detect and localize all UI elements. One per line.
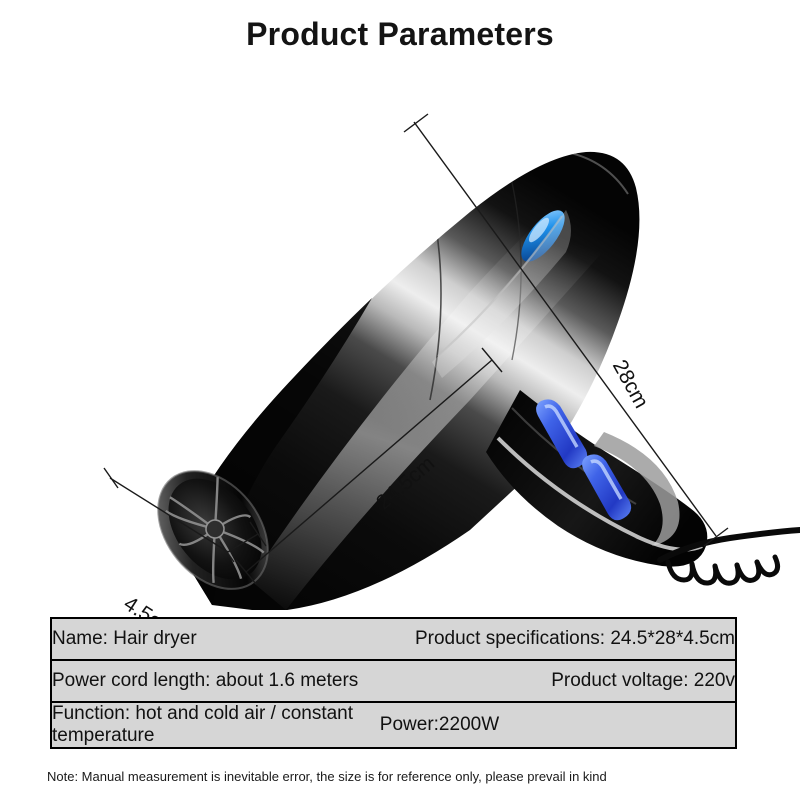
spec-cell-cord-length: Power cord length: about 1.6 meters <box>51 660 380 702</box>
hair-dryer-graphic <box>0 60 800 610</box>
footer-note: Note: Manual measurement is inevitable e… <box>47 769 607 784</box>
specification-table: Name: Hair dryer Product specifications:… <box>50 617 737 749</box>
spec-cell-name: Name: Hair dryer <box>51 618 380 660</box>
table-row: Power cord length: about 1.6 meters Prod… <box>51 660 736 702</box>
product-illustration: 28cm 24.5cm 4.5cm <box>0 60 800 610</box>
table-row: Function: hot and cold air / constant te… <box>51 702 736 748</box>
spec-cell-power: Power:2200W <box>380 702 736 748</box>
page-title: Product Parameters <box>0 16 800 53</box>
table-row: Name: Hair dryer Product specifications:… <box>51 618 736 660</box>
spec-cell-function: Function: hot and cold air / constant te… <box>51 702 380 748</box>
spec-cell-specifications: Product specifications: 24.5*28*4.5cm <box>380 618 736 660</box>
spec-cell-voltage: Product voltage: 220v <box>380 660 736 702</box>
